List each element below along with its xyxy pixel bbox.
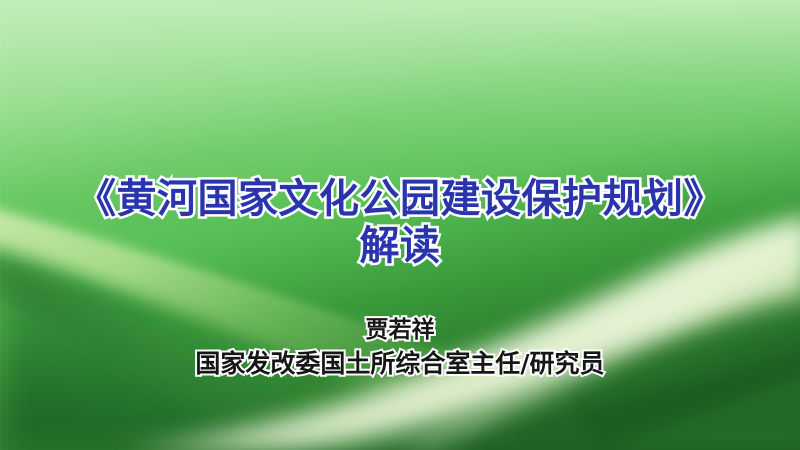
- slide-content: 《黄河国家文化公园建设保护规划》 解读 贾若祥 国家发改委国土所综合室主任/研究…: [0, 0, 800, 450]
- title-line-2: 解读: [0, 223, 800, 270]
- slide-title: 《黄河国家文化公园建设保护规划》 解读: [0, 176, 800, 270]
- title-line-1: 《黄河国家文化公园建设保护规划》: [0, 176, 800, 223]
- slide-subtitle: 贾若祥 国家发改委国土所综合室主任/研究员: [0, 314, 800, 382]
- speaker-role: 国家发改委国土所综合室主任/研究员: [0, 346, 800, 382]
- title-slide: 《黄河国家文化公园建设保护规划》 解读 贾若祥 国家发改委国土所综合室主任/研究…: [0, 0, 800, 450]
- speaker-name: 贾若祥: [0, 314, 800, 346]
